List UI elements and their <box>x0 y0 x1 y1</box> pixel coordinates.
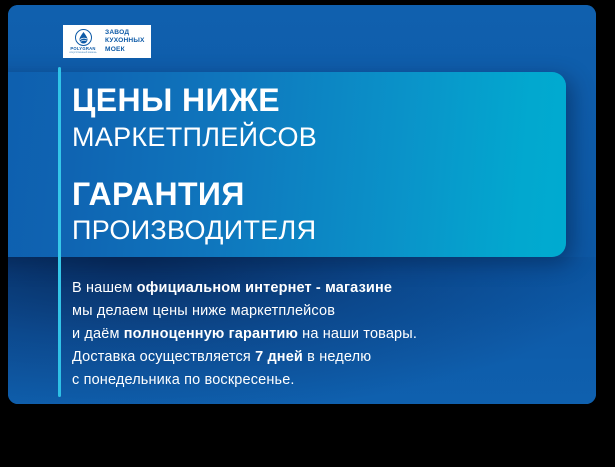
paragraph-line-3-text-a: и даём <box>72 326 124 342</box>
paragraph-line-3: и даём полноценную гарантию на наши това… <box>72 323 542 346</box>
paragraph-line-3-emphasis: полноценную гарантию <box>124 326 298 342</box>
paragraph-line-4-text-a: Доставка осуществляется <box>72 349 255 365</box>
paragraph-line-1-emphasis: официальном интернет - магазине <box>137 280 392 296</box>
paragraph-line-4-text-b: в неделю <box>303 349 371 365</box>
headline-warranty: ГАРАНТИЯ <box>72 177 532 212</box>
logo-brand-subtitle: искусственный камень <box>69 52 96 55</box>
paragraph-line-2-text: мы делаем <box>72 303 153 319</box>
paragraph-line-4-emphasis: 7 дней <box>255 349 303 365</box>
brand-logo-badge: POLYGRAN искусственный камень ЗАВОД КУХО… <box>63 25 151 58</box>
paragraph-line-3-text-b: на наши товары. <box>298 326 417 342</box>
promo-banner-card: POLYGRAN искусственный камень ЗАВОД КУХО… <box>8 5 596 404</box>
paragraph-line-2-emphasis: цены ниже маркетплейсов <box>153 303 336 319</box>
headline-group: ЦЕНЫ НИЖЕ МАРКЕТПЛЕЙСОВ ГАРАНТИЯ ПРОИЗВО… <box>72 83 532 246</box>
headline-prices-lower: ЦЕНЫ НИЖЕ <box>72 83 532 118</box>
paragraph-line-4: Доставка осуществляется 7 дней в неделю <box>72 346 542 369</box>
logo-text-line-2: КУХОННЫХ <box>105 37 148 46</box>
headline-marketplaces: МАРКЕТПЛЕЙСОВ <box>72 122 532 152</box>
paragraph-line-1: В нашем официальном интернет - магазине <box>72 277 542 300</box>
polygran-water-drop-logo-icon: POLYGRAN искусственный камень <box>66 29 100 54</box>
cyan-accent-line <box>58 67 61 397</box>
logo-divider <box>101 28 102 55</box>
headline-manufacturer: ПРОИЗВОДИТЕЛЯ <box>72 215 532 245</box>
logo-text-line-1: ЗАВОД <box>105 29 148 38</box>
paragraph-line-1-text: В нашем <box>72 280 137 296</box>
logo-text-block: ЗАВОД КУХОННЫХ МОЕК <box>105 29 148 55</box>
paragraph-line-2: мы делаем цены ниже маркетплейсов <box>72 300 542 323</box>
logo-text-line-3: МОЕК <box>105 46 148 55</box>
paragraph-line-5: с понедельника по воскресенье. <box>72 369 542 392</box>
description-paragraph: В нашем официальном интернет - магазине … <box>72 277 542 392</box>
paragraph-line-5-text: с понедельника по воскресенье. <box>72 372 295 388</box>
